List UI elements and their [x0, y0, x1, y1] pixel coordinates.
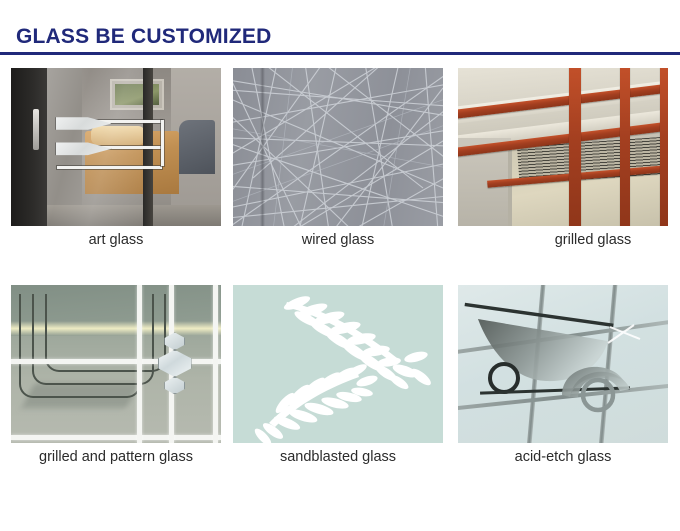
- gallery-item-caption: sandblasted glass: [233, 449, 443, 465]
- glass-seam: [260, 68, 265, 226]
- grille-bar-vertical: [213, 285, 218, 443]
- grilled-glass-photo[interactable]: [458, 68, 668, 226]
- gallery-item-art-glass[interactable]: art glass: [11, 68, 221, 284]
- gallery-row: grilled and pattern glass: [0, 285, 680, 501]
- gallery-item-caption: grilled glass: [458, 232, 680, 248]
- wired-glass-photo[interactable]: [233, 68, 443, 226]
- page-header: GLASS BE CUSTOMIZED: [0, 0, 680, 56]
- headboard: [179, 120, 215, 174]
- gallery-item-grilled-and-pattern-glass[interactable]: grilled and pattern glass: [11, 285, 221, 501]
- gallery-item-grilled-glass[interactable]: grilled glass: [458, 68, 668, 284]
- glass-type-gallery: art glass: [0, 56, 680, 531]
- pattern-glass-scene: [11, 285, 221, 443]
- fern-leaf-motif: [233, 285, 443, 443]
- wall-picture: [110, 79, 164, 110]
- art-glass-door-photo[interactable]: [11, 68, 221, 226]
- gallery-item-caption: grilled and pattern glass: [11, 449, 221, 465]
- art-glass-scene: [11, 68, 221, 226]
- gallery-item-wired-glass[interactable]: wired glass: [233, 68, 443, 284]
- acid-etch-abstract-pattern: [458, 285, 668, 443]
- grilled-glass-scene: [458, 68, 668, 226]
- title-divider: [0, 52, 680, 55]
- grille-bar-vertical: [660, 68, 668, 226]
- door-frame-left: [11, 68, 47, 226]
- grille-bar-vertical: [569, 68, 581, 226]
- door-handle: [33, 109, 39, 150]
- gallery-item-acid-etch-glass[interactable]: acid-etch glass: [458, 285, 668, 501]
- gallery-item-sandblasted-glass[interactable]: sandblasted glass: [233, 285, 443, 501]
- acid-etch-glass-photo[interactable]: [458, 285, 668, 443]
- gallery-item-caption: acid-etch glass: [458, 449, 680, 465]
- grille-bar-vertical: [137, 285, 142, 443]
- grille-bar-vertical: [620, 68, 631, 226]
- sandblasted-glass-photo[interactable]: [233, 285, 443, 443]
- grilled-and-pattern-glass-photo[interactable]: [11, 285, 221, 443]
- gallery-item-caption: art glass: [11, 232, 221, 248]
- lead-bar-vertical: [161, 120, 164, 166]
- grille-bar-horizontal: [11, 435, 221, 440]
- gallery-item-caption: wired glass: [233, 232, 443, 248]
- pillow: [91, 126, 146, 145]
- gallery-row: art glass: [0, 68, 680, 284]
- glass-catalog-page: GLASS BE CUSTOMIZED: [0, 0, 680, 531]
- lead-bar: [57, 166, 162, 169]
- page-title: GLASS BE CUSTOMIZED: [16, 25, 271, 49]
